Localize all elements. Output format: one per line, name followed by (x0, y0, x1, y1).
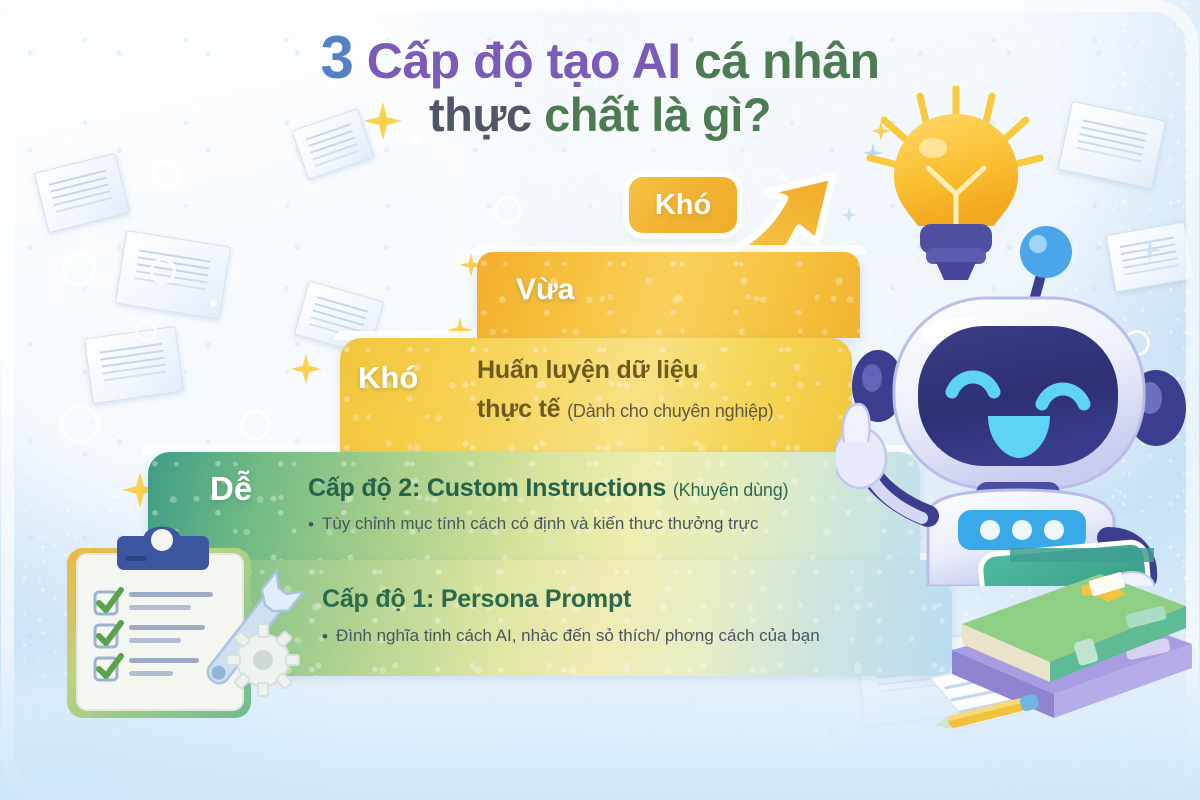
bullet-marker: • (322, 626, 328, 647)
badge-hard-pill[interactable]: Khó (629, 177, 737, 233)
title-green-segment: cá nhân (694, 33, 879, 89)
title-green-segment-2: chất là gì? (544, 88, 771, 141)
level-1-heading: Cấp độ 1: Persona Prompt (322, 585, 922, 614)
level-3-heading-line2-main: thực tế (477, 395, 560, 423)
level-2-text: Cấp độ 2: Custom Instructions (Khuyên dù… (308, 474, 908, 535)
page-title: 3 Cấp độ tạo AI cá nhân thực chất là gì? (0, 26, 1200, 140)
gear-icon (227, 624, 299, 696)
level-2-heading: Cấp độ 2: Custom Instructions (Khuyên dù… (308, 474, 908, 503)
level-2-note: (Khuyên dùng) (673, 480, 788, 500)
level-3-heading-line1: Huấn luyện dữ liệu (477, 356, 837, 385)
stacked-books (930, 548, 1200, 748)
level-3-text: Huấn luyện dữ liệu thực tế (Dành cho chu… (477, 356, 837, 424)
title-line-2: thực chất là gì? (0, 90, 1200, 140)
level-2-heading-main: Cấp độ 2: Custom Instructions (308, 474, 666, 502)
level-1-text: Cấp độ 1: Persona Prompt • Đình nghĩa ti… (322, 585, 922, 647)
level-3-heading-line2: thực tế (Dành cho chuyên nghiệp) (477, 395, 837, 424)
antenna-ball (1020, 226, 1072, 278)
badge-hard: Khó (358, 360, 418, 396)
level-3-note: (Dành cho chuyên nghiệp) (567, 401, 773, 421)
robot-mascot (836, 86, 1200, 586)
title-purple-segment: Cấp độ tạo AI (367, 33, 681, 89)
level-2-bullet: • Tùy chỉnh mục tính cách có định và kiế… (308, 514, 908, 535)
level-1-bullet: • Đình nghĩa tinh cách AI, nhàc đến sỏ t… (322, 626, 922, 647)
badge-medium: Vừa (516, 273, 574, 307)
book-teal-edge (1010, 548, 1154, 562)
title-slate-segment: thực (429, 88, 532, 141)
level-1-bullet-text: Đình nghĩa tinh cách AI, nhàc đến sỏ thí… (336, 626, 820, 646)
clipboard-checklist (55, 520, 305, 740)
title-line-1: 3 Cấp độ tạo AI cá nhân (0, 26, 1200, 90)
bullet-marker: • (308, 514, 314, 535)
clipboard-paper (77, 554, 243, 710)
title-number: 3 (320, 24, 353, 91)
infographic-canvas: 3 Cấp độ tạo AI cá nhân thực chất là gì? (0, 0, 1200, 800)
badge-hard-pill-label: Khó (655, 189, 711, 222)
level-2-bullet-text: Tùy chỉnh mục tính cách có định và kiến … (322, 514, 759, 534)
badge-easy: Dễ (210, 470, 252, 508)
